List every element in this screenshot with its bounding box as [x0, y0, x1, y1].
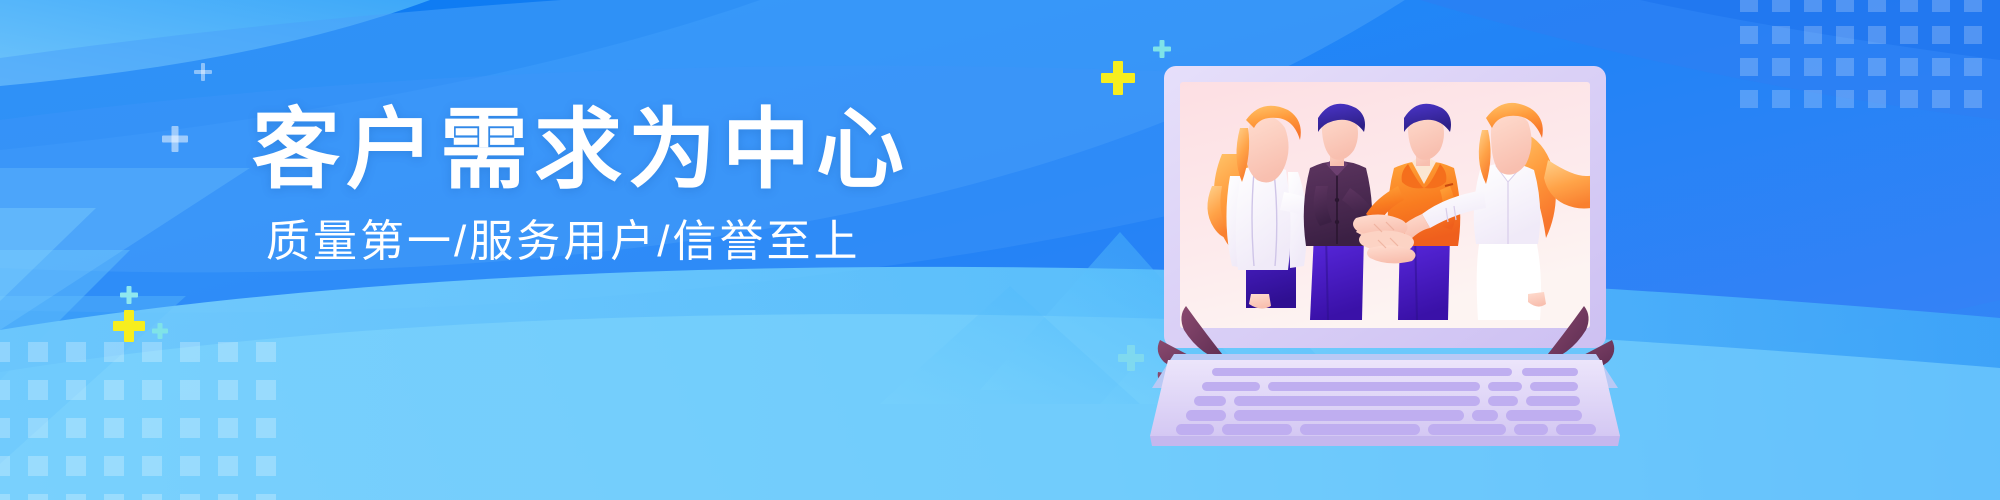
page-title: 客户需求为中心	[252, 104, 910, 196]
headline-block: 客户需求为中心 质量第一/服务用户/信誉至上	[252, 104, 910, 267]
laptop-keyboard-deck	[1150, 354, 1620, 446]
promo-banner: 客户需求为中心 质量第一/服务用户/信誉至上	[0, 0, 2000, 500]
laptop-team-illustration	[1150, 58, 1620, 458]
page-subtitle: 质量第一/服务用户/信誉至上	[266, 218, 910, 266]
